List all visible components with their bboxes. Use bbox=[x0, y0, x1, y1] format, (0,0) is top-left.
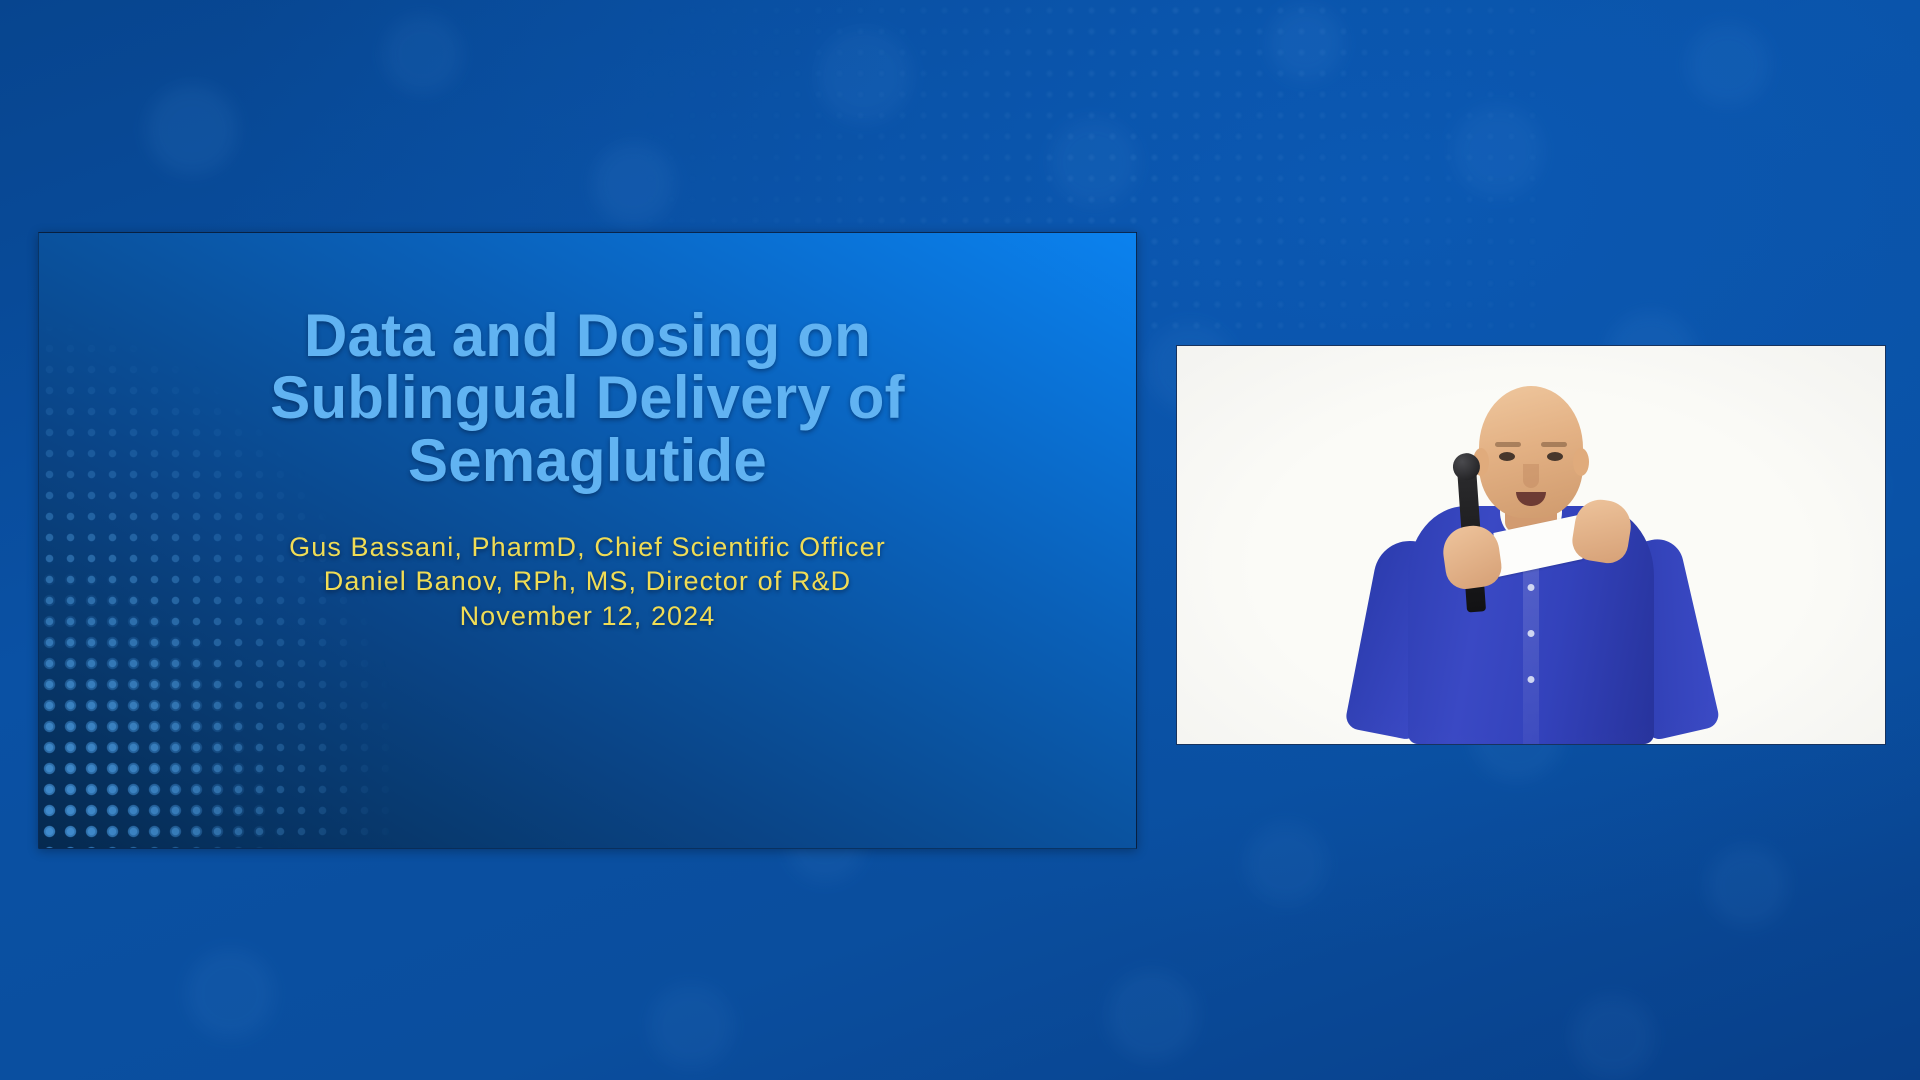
slide-title: Data and Dosing on Sublingual Delivery o… bbox=[163, 305, 1013, 492]
speaker-video-tile[interactable] bbox=[1176, 345, 1886, 745]
presenter-line-2: Daniel Banov, RPh, MS, Director of R&D bbox=[138, 564, 1038, 598]
shirt-button bbox=[1528, 630, 1535, 637]
speaker-figure bbox=[1366, 374, 1696, 744]
speaker-eye-right bbox=[1547, 452, 1563, 461]
speaker-nose bbox=[1523, 464, 1539, 488]
shirt-button bbox=[1528, 584, 1535, 591]
slide-subtitle: Gus Bassani, PharmD, Chief Scientific Of… bbox=[138, 530, 1038, 633]
presentation-date: November 12, 2024 bbox=[138, 599, 1038, 633]
shirt-button bbox=[1528, 676, 1535, 683]
webinar-stage: Data and Dosing on Sublingual Delivery o… bbox=[0, 0, 1920, 1080]
speaker-head bbox=[1479, 386, 1583, 518]
speaker-mouth bbox=[1516, 492, 1546, 506]
speaker-ear-right bbox=[1573, 448, 1589, 476]
speaker-eye-left bbox=[1499, 452, 1515, 461]
speaker-brow-left bbox=[1495, 442, 1521, 447]
slide-content: Data and Dosing on Sublingual Delivery o… bbox=[39, 233, 1136, 848]
presenter-line-1: Gus Bassani, PharmD, Chief Scientific Of… bbox=[138, 530, 1038, 564]
presentation-slide[interactable]: Data and Dosing on Sublingual Delivery o… bbox=[38, 232, 1137, 849]
speaker-brow-right bbox=[1541, 442, 1567, 447]
